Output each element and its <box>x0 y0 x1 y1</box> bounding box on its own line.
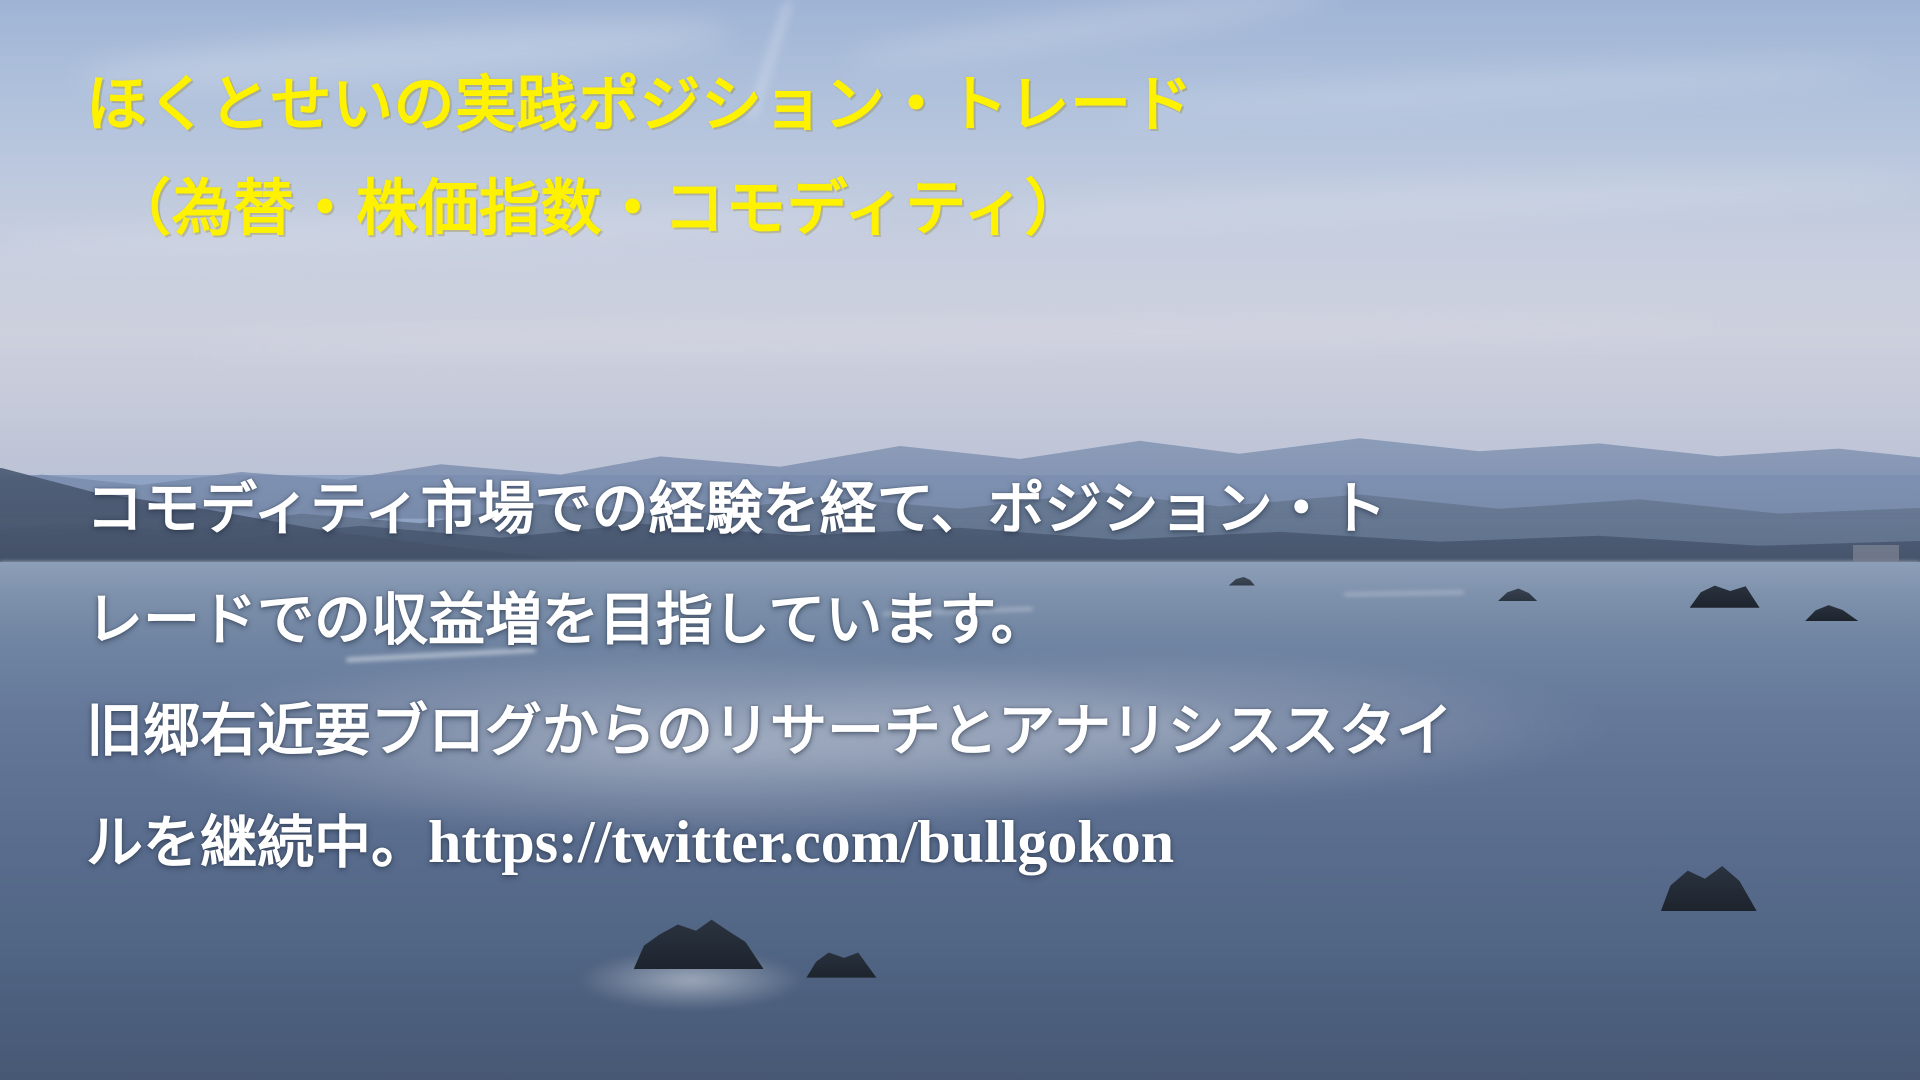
description-line-4: ルを継続中。https://twitter.com/bullgokon <box>86 787 1846 899</box>
description-line-1: コモディティ市場での経験を経て、ポジション・ト <box>86 454 1846 565</box>
profile-banner: ほくとせいの実践ポジション・トレード （為替・株価指数・コモディティ） コモディ… <box>0 0 1920 1080</box>
title-line-1: ほくとせいの実践ポジション・トレード <box>86 52 1786 156</box>
description-line-4-prefix: ルを継続中。 <box>86 811 428 875</box>
description-line-3: 旧郷右近要ブログからのリサーチとアナリシススタイ <box>86 676 1846 787</box>
banner-title: ほくとせいの実践ポジション・トレード （為替・株価指数・コモディティ） <box>86 52 1786 260</box>
title-line-2: （為替・株価指数・コモディティ） <box>86 156 1786 260</box>
text-overlay: ほくとせいの実践ポジション・トレード （為替・株価指数・コモディティ） コモディ… <box>0 0 1920 1080</box>
banner-description: コモディティ市場での経験を経て、ポジション・ト レードでの収益増を目指しています… <box>86 454 1846 899</box>
description-line-2: レードでの収益増を目指しています。 <box>86 565 1846 676</box>
twitter-profile-link[interactable]: https://twitter.com/bullgokon <box>428 809 1174 875</box>
